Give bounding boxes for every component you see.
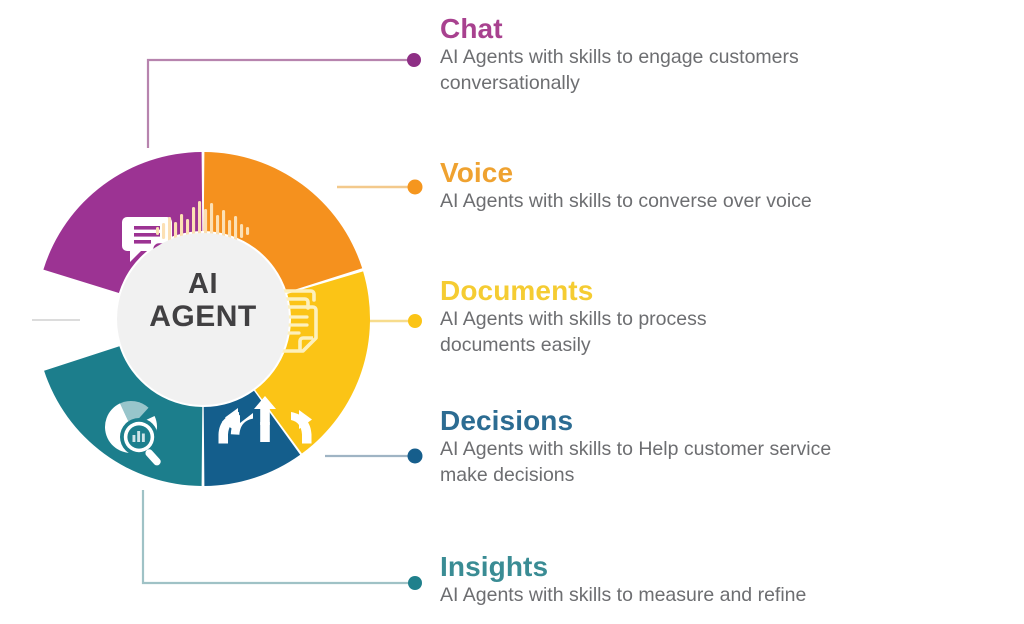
- connector-dot-insights: [408, 576, 422, 590]
- legend-desc-chat: AI Agents with skills to engage customer…: [440, 45, 910, 96]
- legend-item-insights[interactable]: Insights AI Agents with skills to measur…: [440, 552, 806, 609]
- diagram-canvas: AI AGENT Chat AI Agents with skills to e…: [0, 0, 1024, 624]
- legend-desc-documents: AI Agents with skills to process documen…: [440, 307, 785, 358]
- ai-agent-donut-wheel: [36, 132, 380, 504]
- legend-title-decisions: Decisions: [440, 406, 850, 435]
- legend-item-chat[interactable]: Chat AI Agents with skills to engage cus…: [440, 14, 910, 96]
- connector-dot-voice: [408, 180, 423, 195]
- connector-dot-chat: [407, 53, 421, 67]
- legend-title-chat: Chat: [440, 14, 910, 43]
- legend-title-insights: Insights: [440, 552, 806, 581]
- legend-desc-voice: AI Agents with skills to converse over v…: [440, 189, 812, 214]
- connector-dot-decisions: [408, 449, 423, 464]
- legend-item-voice[interactable]: Voice AI Agents with skills to converse …: [440, 158, 812, 215]
- legend-item-documents[interactable]: Documents AI Agents with skills to proce…: [440, 276, 785, 358]
- connector-dot-documents: [408, 314, 422, 328]
- legend-item-decisions[interactable]: Decisions AI Agents with skills to Help …: [440, 406, 850, 488]
- legend-desc-decisions: AI Agents with skills to Help customer s…: [440, 437, 850, 488]
- connector-insights: [143, 490, 422, 590]
- legend-title-voice: Voice: [440, 158, 812, 187]
- legend-desc-insights: AI Agents with skills to measure and ref…: [440, 583, 806, 608]
- hub-circle: [117, 233, 289, 405]
- legend-title-documents: Documents: [440, 276, 785, 305]
